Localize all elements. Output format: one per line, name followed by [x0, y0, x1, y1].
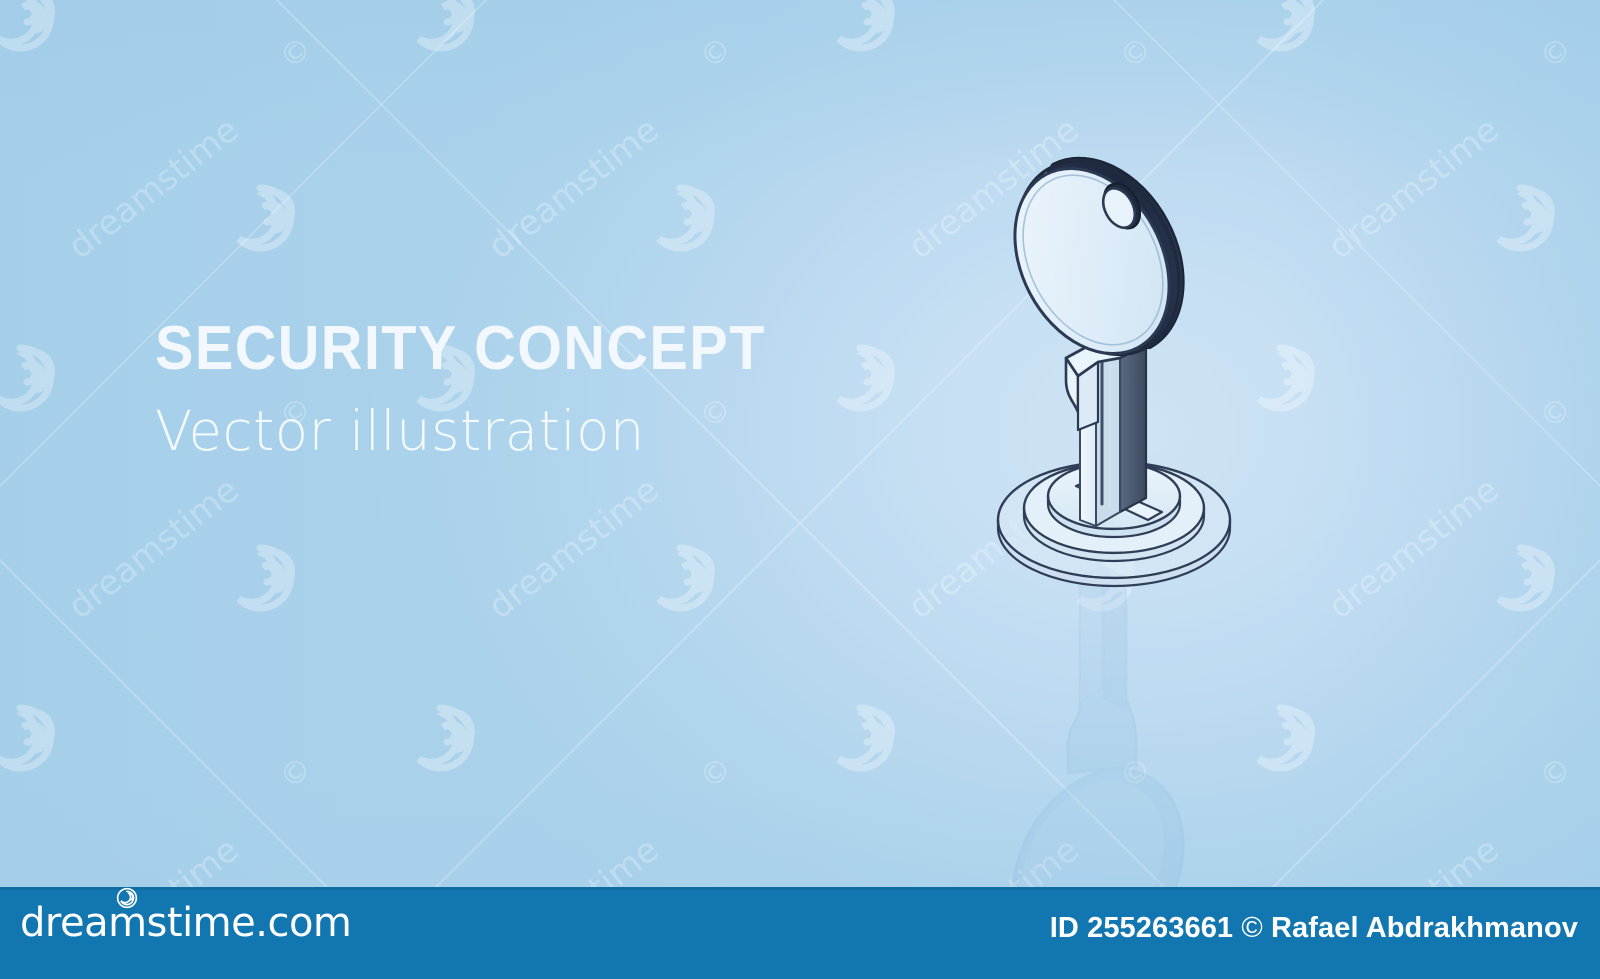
- title-block: SECURITY CONCEPT Vector illustration: [155, 318, 875, 459]
- footer-bar: dreamstime.com ID 255263661 © Rafael Abd…: [0, 887, 1600, 979]
- image-canvas: dreamstime © SECURITY CONCEPT Vector ill…: [0, 0, 1600, 979]
- background-watermark-tiles: dreamstime ©: [0, 0, 1600, 979]
- credit-id: ID 255263661: [1050, 912, 1233, 944]
- dreamstime-logo[interactable]: dreamstime.com: [20, 903, 351, 943]
- page-subtitle: Vector illustration: [155, 404, 868, 459]
- copyright-icon: ©: [1241, 912, 1262, 944]
- key-illustration: [980, 130, 1300, 850]
- key-head: [984, 129, 1216, 383]
- credit-line: ID 255263661 © Rafael Abdrakhmanov: [1050, 912, 1578, 945]
- spiral-icon: [116, 887, 138, 909]
- credit-author: Rafael Abdrakhmanov: [1271, 912, 1578, 944]
- page-title: SECURITY CONCEPT: [155, 318, 825, 380]
- dreamstime-wordmark: dreamstime.com: [20, 903, 351, 943]
